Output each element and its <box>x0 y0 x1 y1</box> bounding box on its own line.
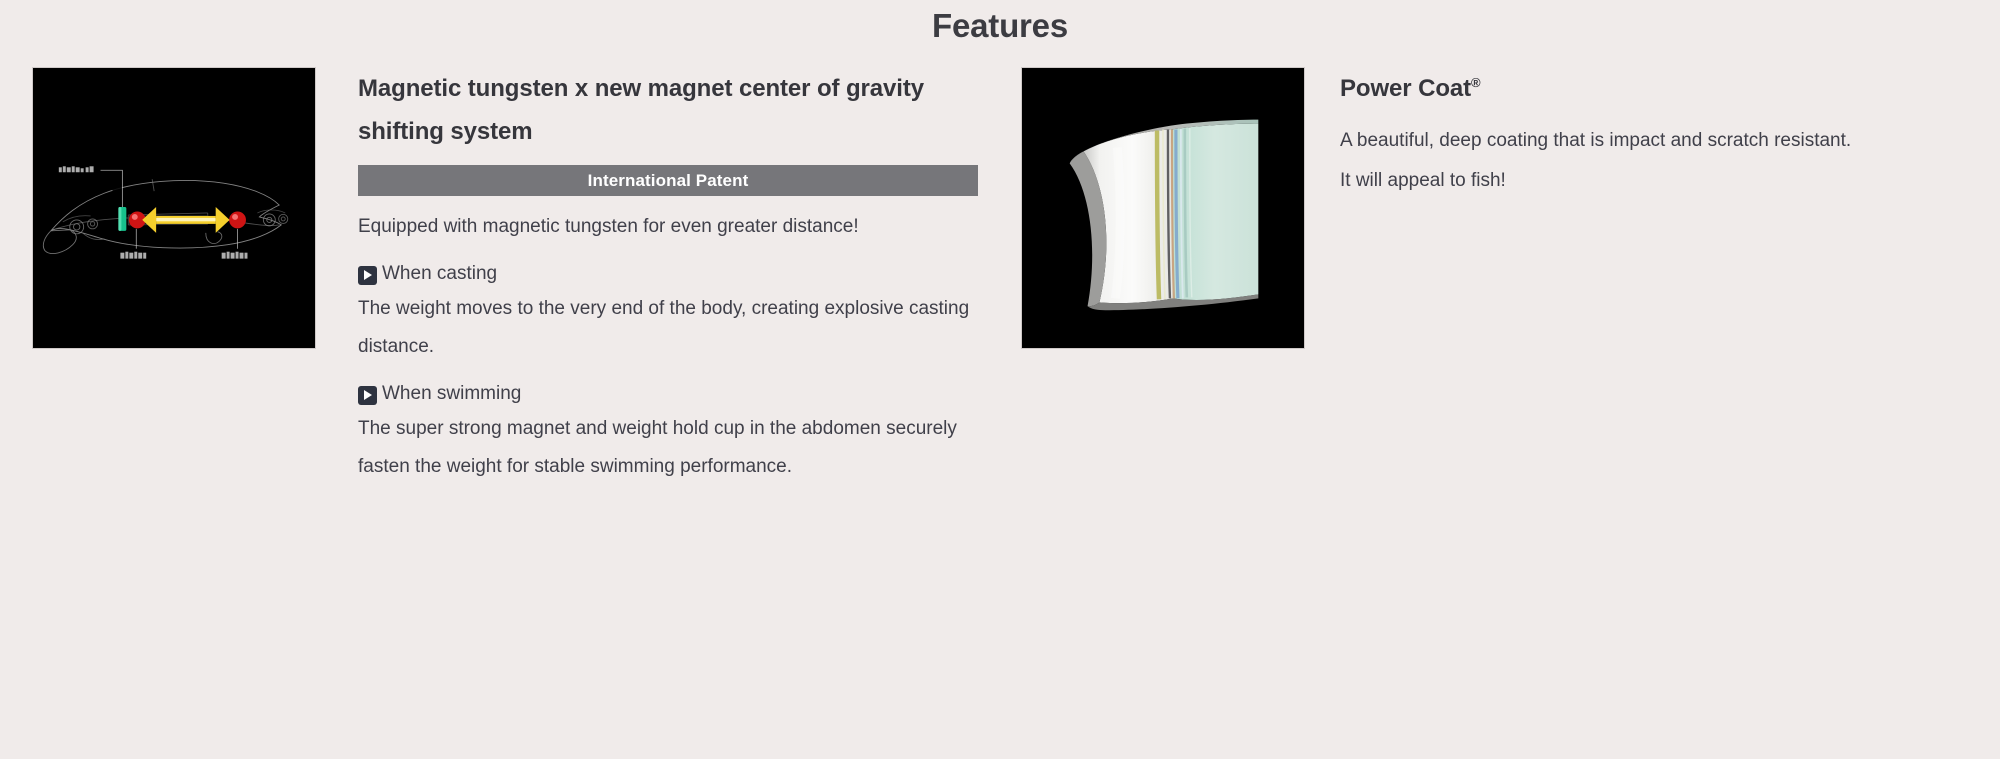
sub-block-label: When swimming <box>382 379 521 409</box>
feature-paragraph-line-1: A beautiful, deep coating that is impact… <box>1340 122 1940 160</box>
sub-block-heading: When swimming <box>358 380 978 410</box>
feature-power-coat: Power Coat® A beautiful, deep coating th… <box>1010 67 2000 486</box>
features-grid: Magnetic tungsten x new magnet center of… <box>0 48 2000 486</box>
sub-block-label: When casting <box>382 259 497 289</box>
feature-magnetic-tungsten: Magnetic tungsten x new magnet center of… <box>0 67 1010 486</box>
feature-heading: Power Coat® <box>1340 67 1940 110</box>
features-section: Features <box>0 0 2000 486</box>
power-coat-cross-section <box>1021 67 1305 349</box>
lure-weight-transfer-diagram <box>32 67 316 349</box>
sub-block-paragraph: The weight moves to the very end of the … <box>358 290 978 366</box>
feature-paragraph-line-2: It will appeal to fish! <box>1340 162 1940 200</box>
feature-heading: Magnetic tungsten x new magnet center of… <box>358 67 978 153</box>
registered-trademark-icon: ® <box>1471 75 1480 90</box>
sub-block-when-casting: When casting The weight moves to the ver… <box>358 260 978 366</box>
feature-text-block: Magnetic tungsten x new magnet center of… <box>358 67 978 486</box>
page-title: Features <box>0 0 2000 48</box>
play-icon <box>358 386 377 405</box>
feature-text-block: Power Coat® A beautiful, deep coating th… <box>1340 67 1940 200</box>
sub-block-paragraph: The super strong magnet and weight hold … <box>358 410 978 486</box>
lure-diagram-svg <box>33 68 315 348</box>
sub-block-when-swimming: When swimming The super strong magnet an… <box>358 380 978 486</box>
status-badge: International Patent <box>358 165 978 196</box>
feature-heading-text: Power Coat <box>1340 75 1471 102</box>
sub-block-heading: When casting <box>358 260 978 290</box>
play-icon <box>358 266 377 285</box>
coating-cross-section-svg <box>1022 68 1304 348</box>
feature-intro-paragraph: Equipped with magnetic tungsten for even… <box>358 208 978 246</box>
